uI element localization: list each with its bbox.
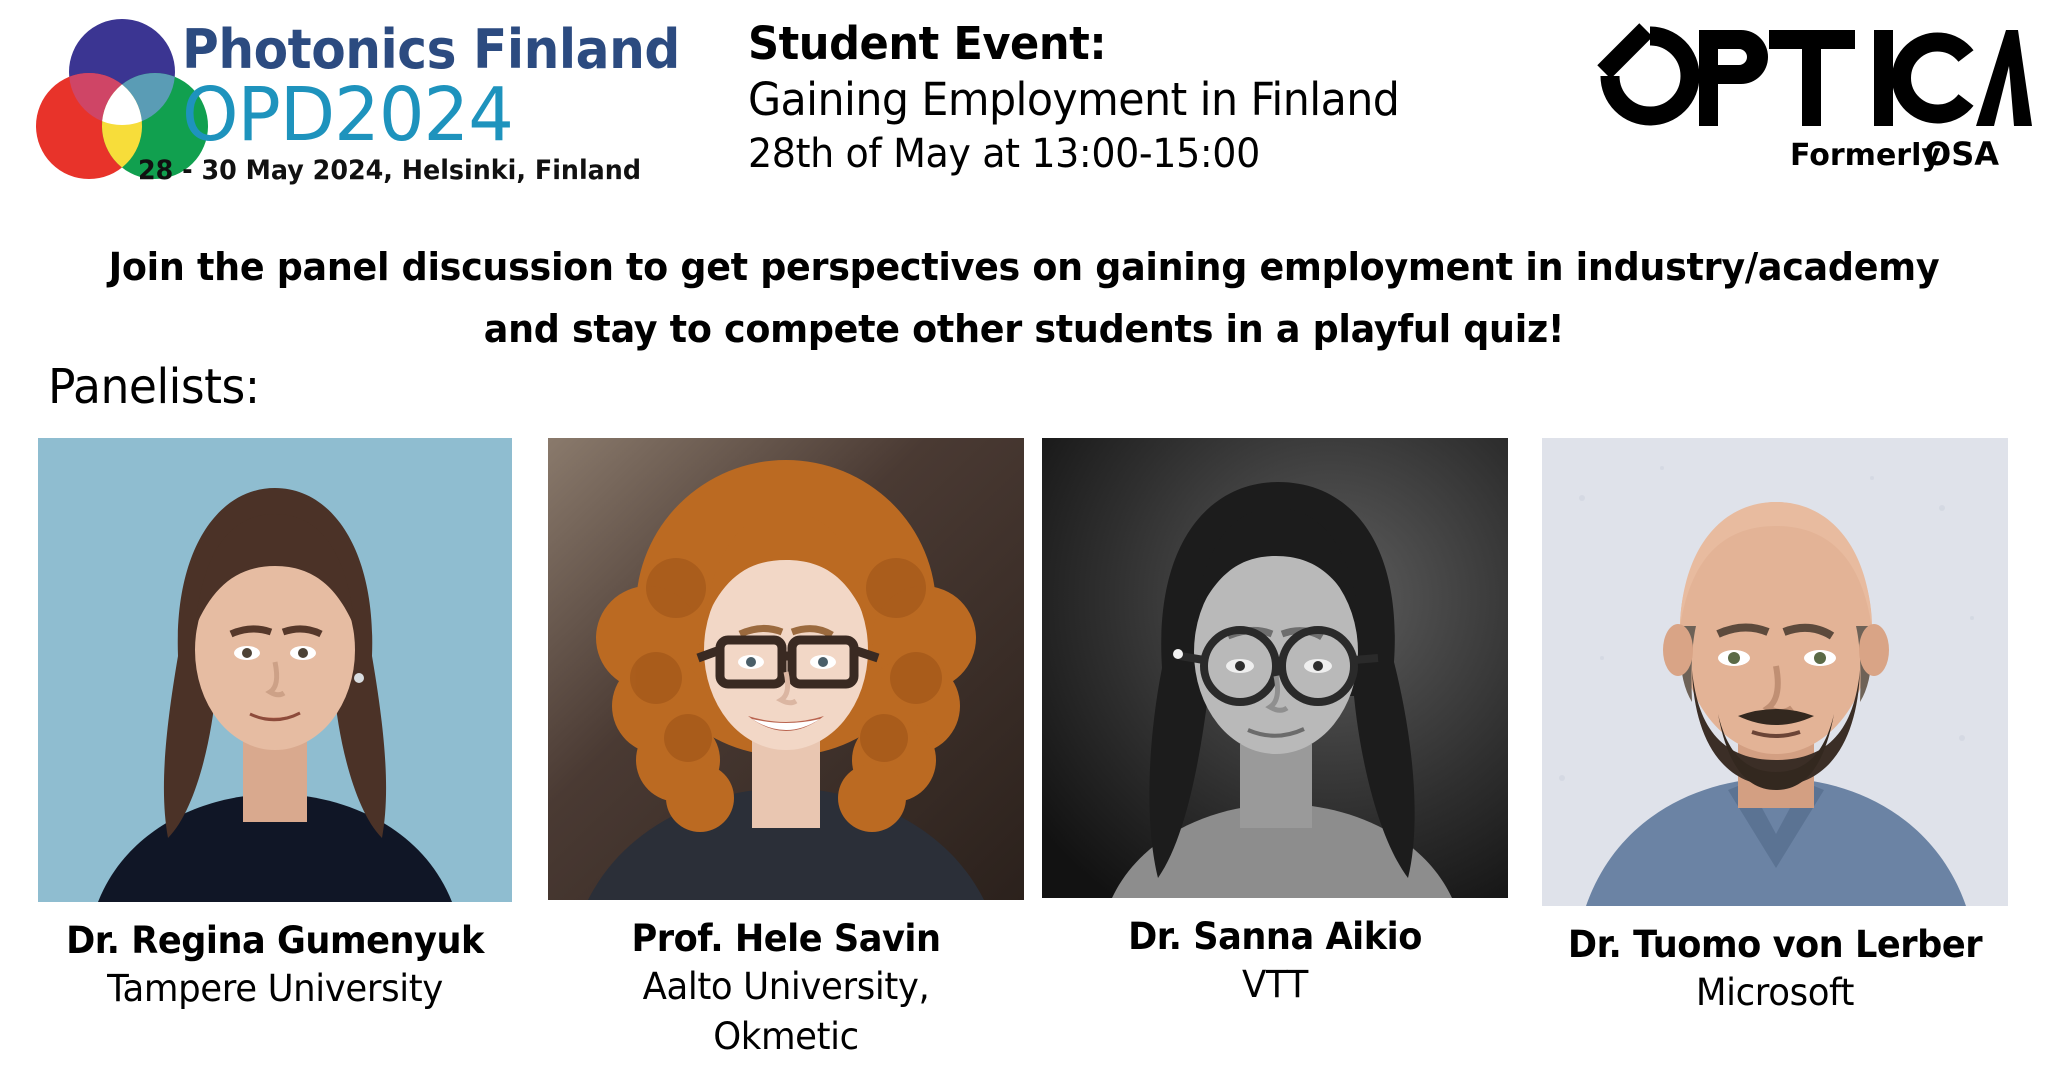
optica-logo: Formerly OSA	[1594, 18, 2034, 178]
event-title-block: Student Event: Gaining Employment in Fin…	[748, 16, 1508, 180]
panelist-caption: Dr. Regina Gumenyuk Tampere University	[0, 902, 554, 1014]
panelist-name: Dr. Sanna Aikio	[1054, 914, 1497, 960]
panelist-photo	[38, 438, 512, 902]
portrait-image	[1542, 438, 2008, 906]
event-title: Gaining Employment in Finland	[748, 72, 1470, 128]
panelists-row: Dr. Regina Gumenyuk Tampere University	[0, 438, 2048, 1078]
panelist-affiliation: Microsoft	[1534, 968, 2016, 1018]
panelist-card: Dr. Sanna Aikio VTT	[1042, 438, 1508, 1010]
panelist-affiliation: VTT	[1051, 960, 1498, 1010]
event-kicker: Student Event:	[748, 16, 1478, 72]
panelist-affiliation: Tampere University	[7, 964, 543, 1014]
photonics-finland-opd2024-logo: Photonics Finland OPD2024 28 - 30 May 20…	[14, 8, 714, 213]
header-banner: Photonics Finland OPD2024 28 - 30 May 20…	[0, 0, 2048, 215]
optica-tagline-osa: OSA	[1924, 135, 1999, 173]
panelist-name: Dr. Tuomo von Lerber	[1537, 922, 2014, 968]
portrait-image	[38, 438, 512, 902]
panelist-caption: Dr. Sanna Aikio VTT	[1042, 898, 1508, 1010]
panelist-caption: Dr. Tuomo von Lerber Microsoft	[1524, 906, 2026, 1018]
pf-wordmark: Photonics Finland OPD2024 28 - 30 May 20…	[182, 22, 712, 202]
panelist-card: Dr. Regina Gumenyuk Tampere University	[38, 438, 512, 1014]
panelist-card: Prof. Hele Savin Aalto University, Okmet…	[548, 438, 1024, 1062]
panelist-affiliation-line2: Okmetic	[558, 1012, 1015, 1062]
pf-logo-line1: Photonics Finland	[182, 22, 675, 78]
panelist-card: Dr. Tuomo von Lerber Microsoft	[1542, 438, 2008, 1018]
panelist-photo	[1542, 438, 2008, 906]
optica-tagline-formerly: Formerly	[1790, 138, 1941, 173]
portrait-image	[548, 438, 1024, 900]
panelist-name: Dr. Regina Gumenyuk	[10, 918, 540, 964]
portrait-image	[1042, 438, 1508, 898]
lead-paragraph: Join the panel discussion to get perspec…	[0, 236, 2048, 360]
lead-line-2: and stay to compete other students in a …	[41, 298, 2007, 360]
panelist-name: Prof. Hele Savin	[560, 916, 1012, 962]
panelist-photo	[1042, 438, 1508, 898]
event-datetime: 28th of May at 13:00-15:00	[748, 128, 1470, 180]
panelist-affiliation-line1: Aalto University,	[558, 962, 1015, 1012]
lead-line-1: Join the panel discussion to get perspec…	[41, 236, 2007, 298]
panelists-label: Panelists:	[48, 358, 260, 416]
pf-logo-line2: OPD2024	[182, 80, 696, 150]
panelist-photo	[548, 438, 1024, 900]
pf-logo-dates: 28 - 30 May 2024, Helsinki, Finland	[138, 156, 678, 186]
panelist-caption: Prof. Hele Savin Aalto University, Okmet…	[548, 900, 1024, 1062]
